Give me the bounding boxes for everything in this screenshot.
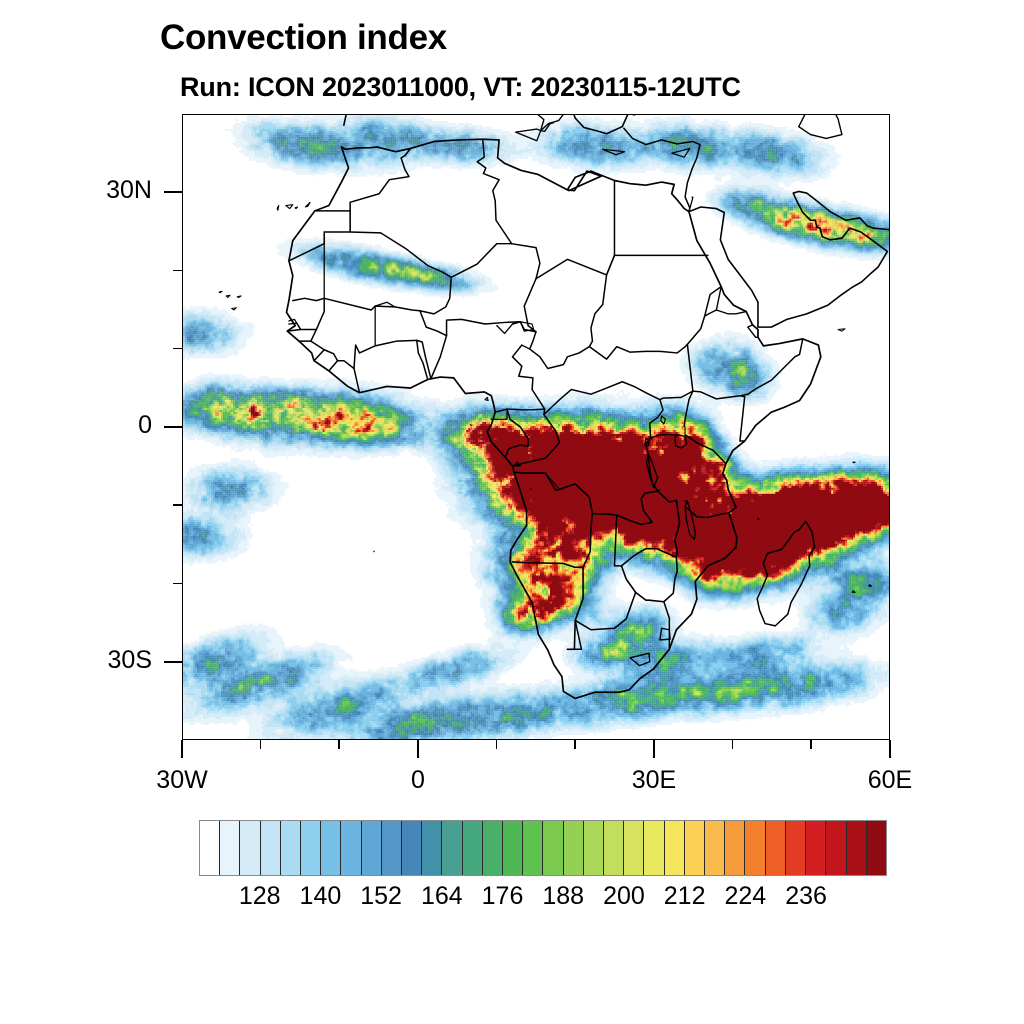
island-cv-2 [226,295,230,297]
island-socotra [838,329,845,331]
colorbar-cell-28 [766,821,786,875]
x-axis-tick-minor [338,740,340,749]
page-title: Convection index [160,18,447,58]
island-sao-tome [470,425,472,426]
x-axis-tick-major [417,740,419,758]
colorbar-cell-17 [543,821,563,875]
x-axis-label-30E: 30E [594,766,714,795]
island-seychelles [853,462,855,463]
colorbar-cell-0 [200,821,220,875]
colorbar-cell-22 [644,821,664,875]
border-sd-ssd [589,344,687,359]
colorbar-cell-25 [705,821,725,875]
map-plot-area [182,114,890,740]
colorbar-cell-14 [483,821,503,875]
colorbar-cell-11 [422,821,442,875]
colorbar-cell-8 [362,821,382,875]
colorbar-cell-5 [301,821,321,875]
colorbar-cell-13 [463,821,483,875]
border-td-caf [530,332,590,369]
colorbar-cell-23 [665,821,685,875]
colorbar-cell-15 [503,821,523,875]
y-axis-tick-major [164,191,182,193]
weather-map-page: Convection index Run: ICON 2023011000, V… [0,0,1024,1024]
colorbar-cell-26 [725,821,745,875]
x-axis-label-30W: 30W [122,766,242,795]
colorbar-cell-9 [382,821,402,875]
colorbar-cell-32 [847,821,867,875]
border-er-et [716,310,746,314]
border-ng-cm [512,345,521,357]
border-eritrea [705,287,722,317]
colorbar-tick-236: 236 [761,882,851,911]
border-sl-gn [314,350,338,361]
colorbar-cell-12 [442,821,462,875]
colorbar-cell-10 [402,821,422,875]
x-axis-tick-minor [732,740,734,749]
x-axis-tick-minor [810,740,812,749]
border-ly-td-e [536,255,614,278]
colorbar-cell-2 [240,821,260,875]
border-ng-cm-n [497,324,513,333]
border-ly-td-w [512,244,540,279]
y-axis-label-30S: 30S [72,646,152,675]
colorbar-cell-1 [220,821,240,875]
colorbar-cell-4 [281,821,301,875]
colorbar-cell-3 [261,821,281,875]
colorbar-cell-29 [786,821,806,875]
border-gh-bf [375,340,417,345]
y-axis-label-0: 0 [72,411,152,440]
border-bf-ml [375,306,420,311]
y-axis-tick-major [164,426,182,428]
border-lr-sl [329,361,354,371]
x-axis-tick-minor [260,740,262,749]
island-canary-1 [277,206,279,211]
page-subtitle: Run: ICON 2023011000, VT: 20230115-12UTC [180,72,741,103]
colorbar-cell-31 [826,821,846,875]
border-mr-ml [324,298,375,310]
colorbar-cell-16 [523,821,543,875]
y-axis-tick-minor [173,583,182,585]
colorbar-cell-18 [564,821,584,875]
island-canary-2 [286,205,293,209]
colorbar-cell-6 [321,821,341,875]
island-st-helena [374,551,375,552]
colorbar-tick-labels: 128140152164176188200212224236 [199,882,887,916]
colorbar-cell-33 [867,821,886,875]
island-cv-4 [219,291,222,293]
colorbar-cell-19 [584,821,604,875]
border-bj-ng-w [431,336,447,379]
colorbar-cell-24 [685,821,705,875]
y-axis-tick-minor [173,504,182,506]
map-canvas [183,115,889,739]
island-ascension [531,489,532,490]
border-cm-td [522,345,530,349]
x-axis-tick-major [889,740,891,758]
x-axis-tick-major [653,740,655,758]
y-axis-tick-major [164,661,182,663]
colorbar[interactable] [199,820,887,876]
border-ne-bf-bj [420,311,447,336]
colorbar-cell-27 [745,821,765,875]
y-axis-tick-minor [173,270,182,272]
island-canary-3 [295,207,297,209]
colorbar-cell-7 [341,821,361,875]
border-tg-bj [417,340,431,378]
colorbar-cell-30 [806,821,826,875]
island-cv-3 [237,296,241,298]
colorbar-cell-20 [604,821,624,875]
x-axis-tick-major [181,740,183,758]
colorbar-cell-21 [624,821,644,875]
island-canary-4 [305,202,310,207]
y-axis-tick-minor [173,348,182,350]
coastline-aqaba [689,197,693,212]
coastline-caspian-w [799,115,807,127]
y-axis-label-30N: 30N [72,176,152,205]
x-axis-label-0: 0 [358,766,478,795]
x-axis-tick-minor [574,740,576,749]
x-axis-label-60E: 60E [830,766,950,795]
x-axis-tick-minor [496,740,498,749]
